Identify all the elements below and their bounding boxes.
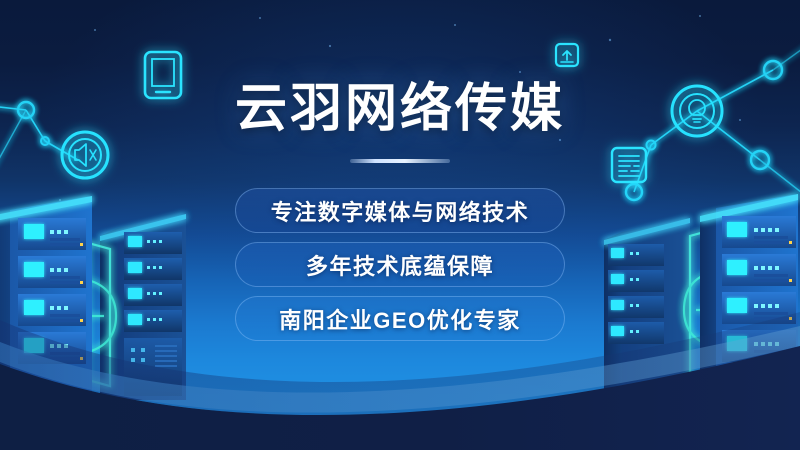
tagline-pill-1: 专注数字媒体与网络技术 [235, 188, 565, 233]
tagline-list: 专注数字媒体与网络技术 多年技术底蕴保障 南阳企业GEO优化专家 [0, 188, 800, 341]
tagline-pill-3: 南阳企业GEO优化专家 [235, 296, 565, 341]
title-block: 云羽网络传媒 [0, 82, 800, 163]
promo-banner: 云羽网络传媒 专注数字媒体与网络技术 多年技术底蕴保障 南阳企业GEO优化专家 [0, 0, 800, 450]
tagline-pill-2: 多年技术底蕴保障 [235, 242, 565, 287]
page-title: 云羽网络传媒 [0, 82, 800, 137]
upload-square-icon [556, 44, 578, 66]
title-divider [350, 159, 450, 163]
